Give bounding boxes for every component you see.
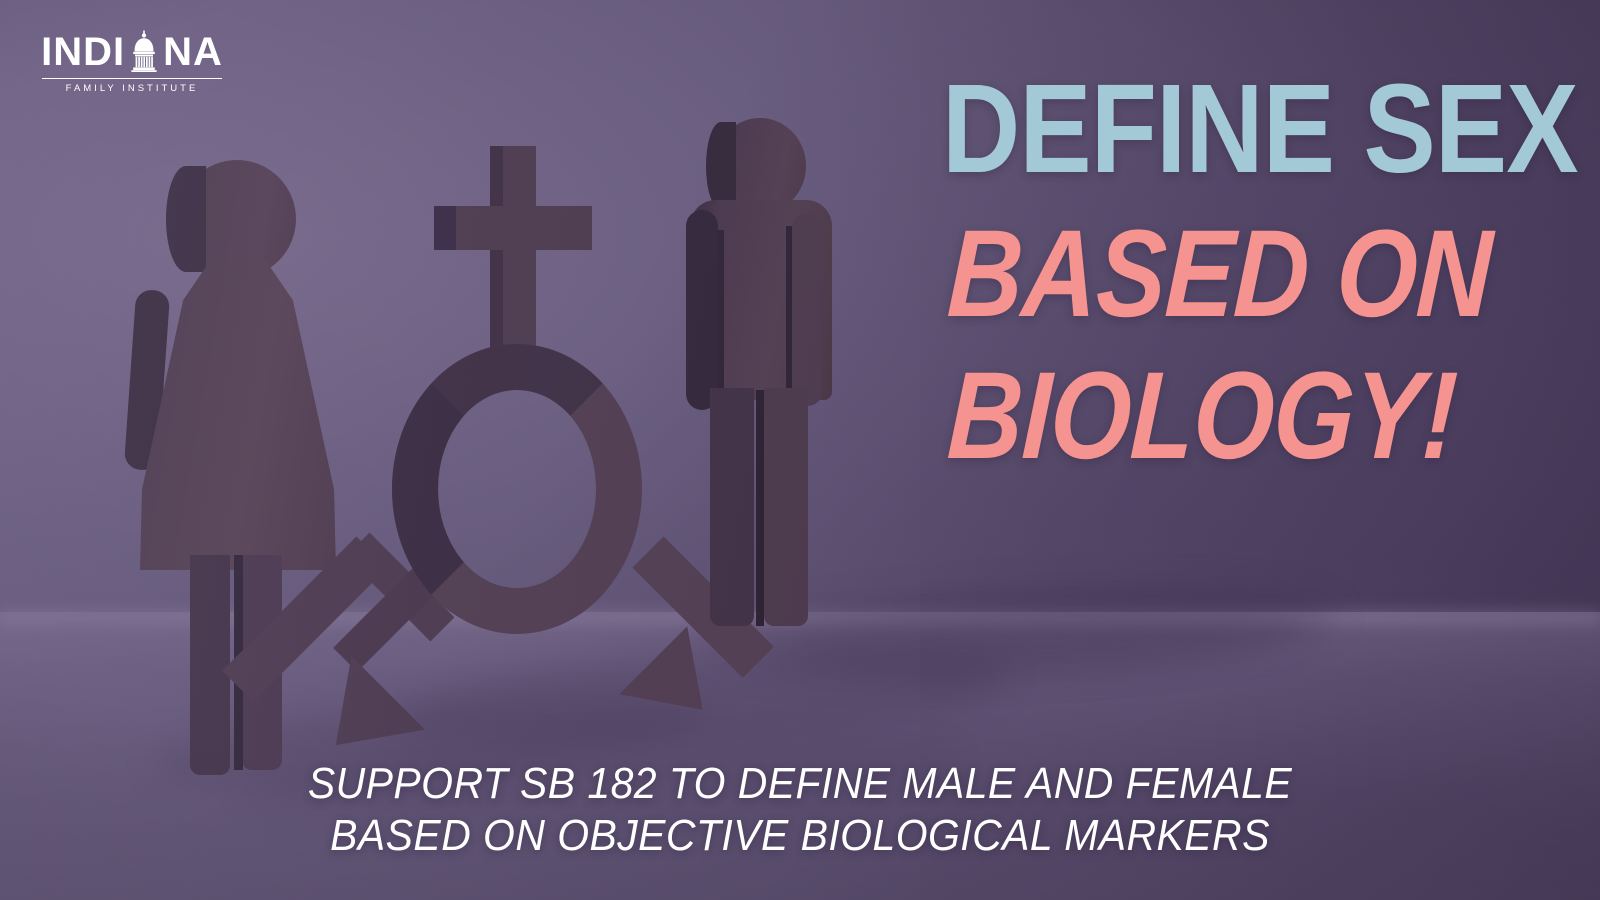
logo-tagline: FAMILY INSTITUTE: [42, 78, 222, 94]
promotional-graphic: INDI: [0, 0, 1600, 900]
caption-line-2: BASED ON OBJECTIVE BIOLOGICAL MARKERS: [56, 810, 1544, 862]
caption-line-1: SUPPORT SB 182 TO DEFINE MALE AND FEMALE: [56, 758, 1544, 810]
headline-line-1: DEFINE SEX: [942, 72, 1458, 185]
headline-block: DEFINE SEX BASED ON BIOLOGY!: [900, 72, 1500, 473]
organization-logo[interactable]: INDI: [42, 30, 222, 94]
headline-line-2: BASED ON: [946, 219, 1455, 331]
logo-word-left: INDI: [41, 32, 125, 72]
logo-wordmark: INDI: [42, 30, 222, 72]
call-to-action-caption: SUPPORT SB 182 TO DEFINE MALE AND FEMALE…: [0, 758, 1600, 862]
logo-word-right: NA: [163, 32, 223, 72]
capitol-dome-icon: [126, 30, 162, 72]
headline-line-3: BIOLOGY!: [946, 361, 1455, 473]
